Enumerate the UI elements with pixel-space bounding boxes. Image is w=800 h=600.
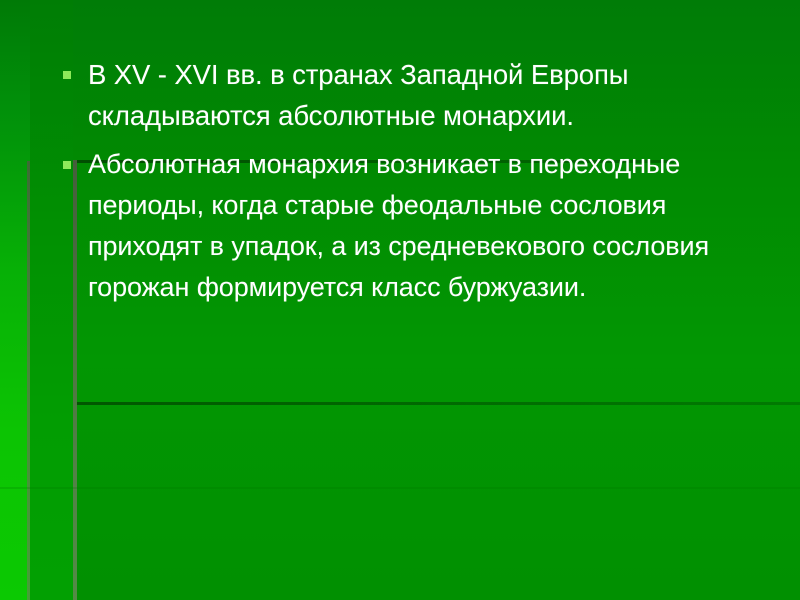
slide-content-body: В XV - XVI вв. в странах Западной Европы…: [60, 54, 760, 316]
background-left-glow-band: [0, 0, 30, 600]
square-bullet-icon: [63, 71, 71, 79]
bullet-text-2: Абсолютная монархия возникает в переходн…: [88, 144, 760, 308]
list-item: В XV - XVI вв. в странах Западной Европы…: [60, 54, 760, 136]
list-item: Абсолютная монархия возникает в переходн…: [60, 144, 760, 308]
bullet-text-1: В XV - XVI вв. в странах Западной Европы…: [88, 54, 760, 136]
horizontal-divider-line-bottom: [77, 402, 800, 405]
presentation-slide: В XV - XVI вв. в странах Западной Европы…: [0, 0, 800, 600]
square-bullet-icon: [63, 161, 71, 169]
background-seam-line: [0, 487, 800, 489]
vertical-divider-line-outer: [27, 161, 30, 600]
